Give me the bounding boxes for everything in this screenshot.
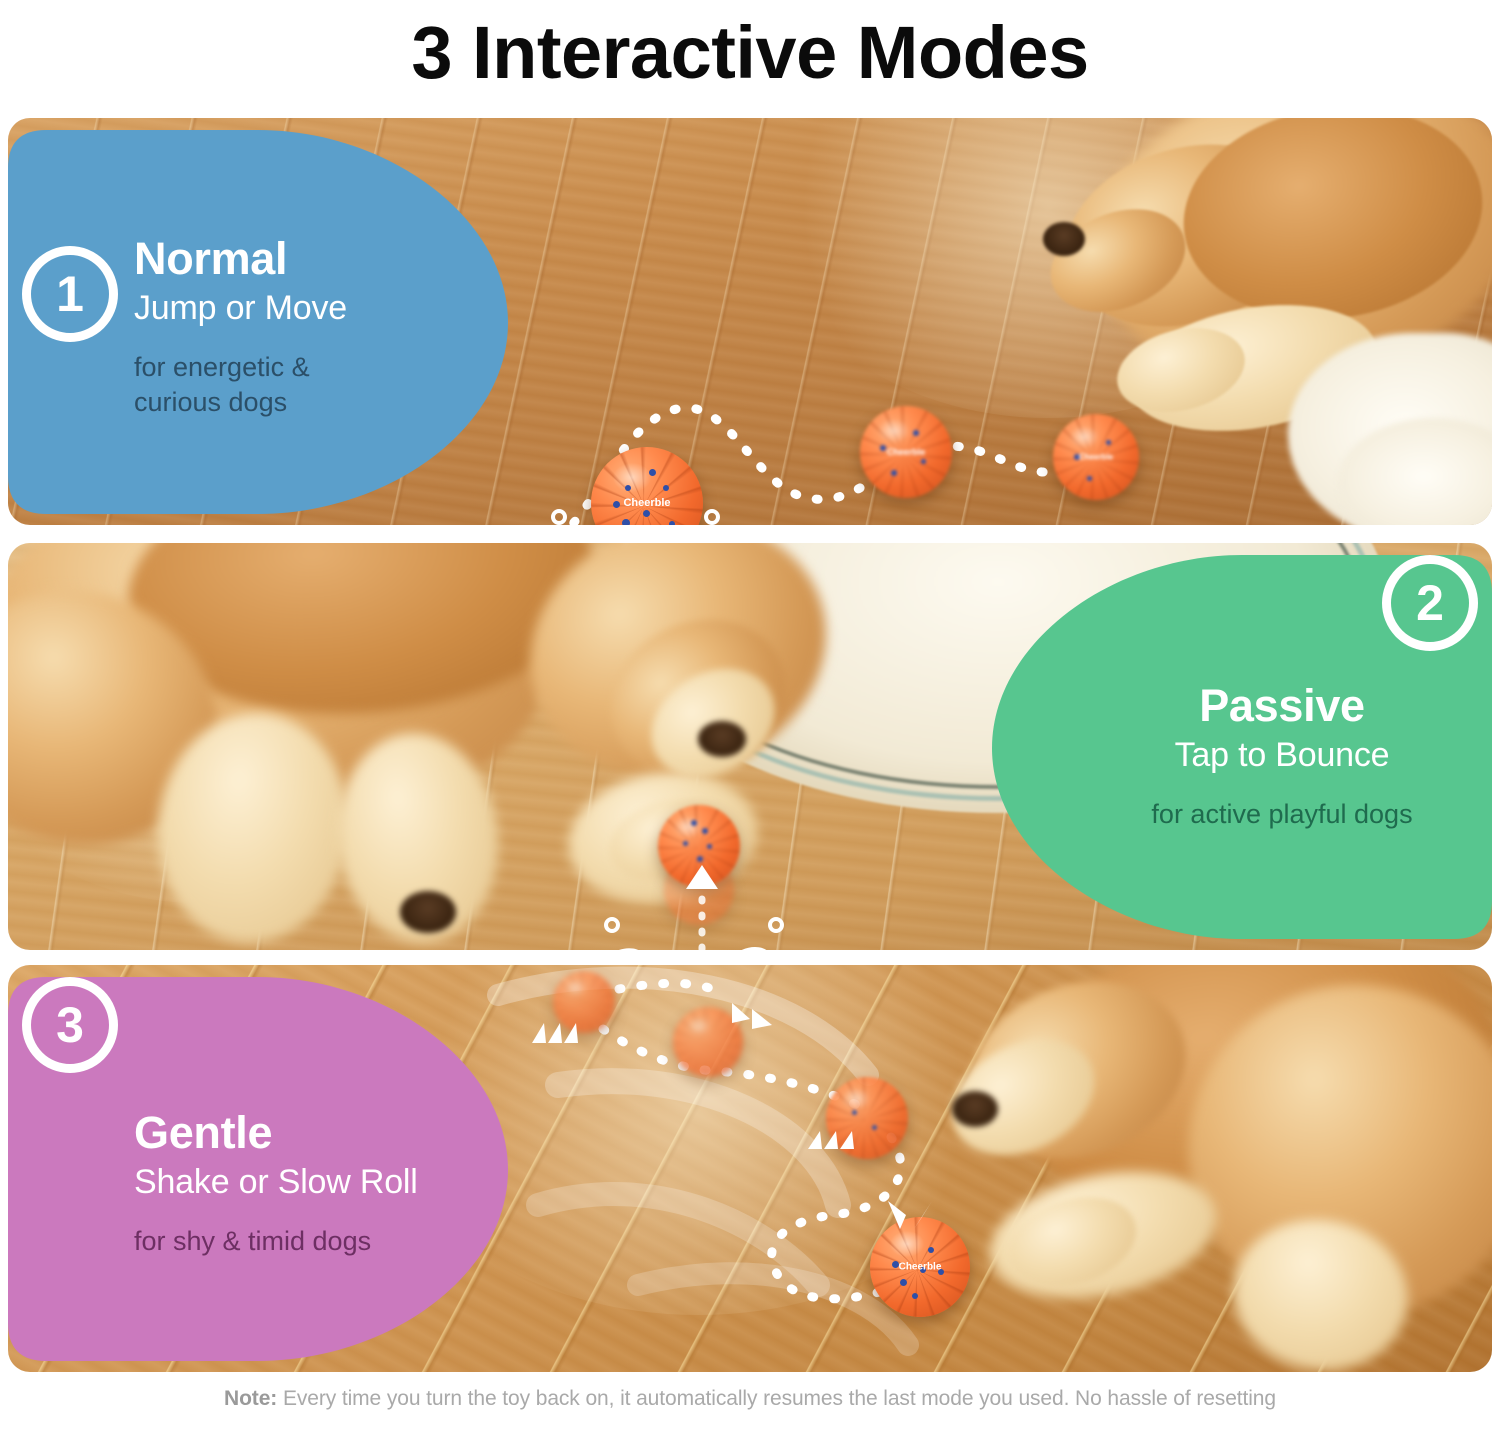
speed-chevrons-3 [804,1123,864,1159]
dog-nose [1043,222,1085,256]
mode-description: for active playful dogs [1092,797,1472,832]
mode-card-text-normal: Normal Jump or Move for energetic & curi… [134,236,494,420]
mode-card-text-gentle: Gentle Shake or Slow Roll for shy & timi… [134,1110,504,1259]
speed-chevrons-4 [880,1195,944,1235]
mode-title: Passive [1092,683,1472,728]
footer-note-label: Note: [224,1387,277,1410]
mode-title: Gentle [134,1110,504,1155]
badge-number: 3 [56,1000,84,1050]
cheerble-ball-3: Cheerble [1053,414,1139,500]
footer-note-text: Every time you turn the toy back on, it … [283,1387,1276,1410]
motion-squiggle-left [596,913,682,950]
mode-panel-gentle: Cheerble Gentle Shake or Slow R [8,965,1492,1372]
mode-number-badge-2: 2 [1382,555,1478,651]
mode-panel-normal: Cheerble Cheerble Cheerble [8,118,1492,525]
cheerble-ball-2: Cheerble [860,406,952,498]
motion-squiggle-right [724,913,824,950]
ball-brand-label: Cheerble [899,1262,942,1273]
mode-description: for shy & timid dogs [134,1224,504,1259]
mode-card-gentle: Gentle Shake or Slow Roll for shy & timi… [8,965,528,1372]
mode-subtitle: Shake or Slow Roll [134,1162,504,1202]
mode-number-badge-1: 1 [22,246,118,342]
mode-title: Normal [134,236,494,281]
badge-number: 1 [56,269,84,319]
dog-paw-pad [400,891,456,933]
mode-card-text-passive: Passive Tap to Bounce for active playful… [1092,683,1472,832]
mode-description: for energetic & curious dogs [134,350,344,420]
ball-brand-label: Cheerble [623,497,670,509]
bounce-arrow-up [676,861,728,950]
dog-nose [698,721,746,757]
infographic-page: 3 Interactive Modes [0,0,1500,1430]
mode-card-normal: Normal Jump or Move for energetic & curi… [8,118,528,525]
footer-note: Note: Every time you turn the toy back o… [0,1387,1500,1411]
motion-squiggle-right [698,503,778,525]
mode-subtitle: Jump or Move [134,288,494,328]
mode-card-passive: Passive Tap to Bounce for active playful… [972,543,1492,950]
badge-number: 2 [1416,578,1444,628]
mode-number-badge-3: 3 [22,977,118,1073]
mode-panel-passive: Passive Tap to Bounce for active playful… [8,543,1492,950]
page-title: 3 Interactive Modes [0,0,1500,105]
mode-subtitle: Tap to Bounce [1092,735,1472,775]
ball-brand-label: Cheerble [1079,453,1113,462]
ball-brand-label: Cheerble [887,447,926,457]
speed-chevrons-1 [526,1013,596,1053]
motion-squiggle-left [543,503,623,525]
speed-chevrons-2 [724,997,784,1043]
